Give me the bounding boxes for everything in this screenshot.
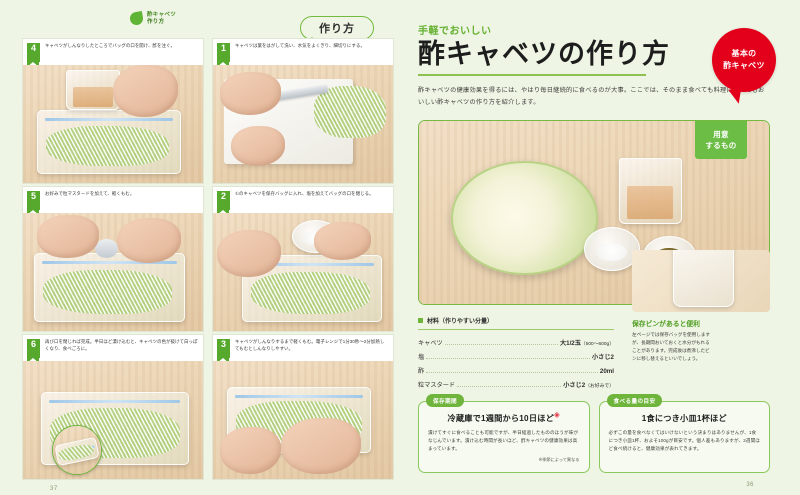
leader-dots bbox=[426, 372, 598, 373]
step-card-3: 3 キャベツがしんなりするまで軽くもむ。電子レンジで1分30秒〜2分加熱してもむ… bbox=[212, 334, 394, 480]
hero-tag-line-2: するもの bbox=[705, 140, 736, 151]
leader-dots bbox=[426, 358, 590, 359]
jar-note-body: 左ページでは保存バッグを使用しますが、長期間おいておくと水分がもれることがありま… bbox=[632, 331, 714, 363]
step-photo-3 bbox=[213, 361, 393, 479]
step-number-badge: 4 bbox=[27, 43, 40, 62]
jar-note-title: 保存ビンがあると便利 bbox=[632, 318, 770, 328]
serving-amount-text: 必ずこの量を食べなくてはいけないという決まりはありませんが、1食につき小皿1杯、… bbox=[609, 429, 761, 454]
ingredient-row: 塩 小さじ2 bbox=[418, 349, 614, 363]
basic-recipe-badge: 基本の 酢キャベツ bbox=[712, 28, 776, 92]
step-number-badge: 1 bbox=[217, 43, 230, 62]
step-photo-4 bbox=[23, 65, 203, 183]
storage-period-tab: 保存期間 bbox=[426, 394, 464, 407]
ingredient-name: 酢 bbox=[418, 366, 424, 375]
storage-period-title: 冷蔵庫で1週間から10日ほど※ bbox=[428, 412, 580, 424]
magazine-spread: 酢キャベツ 作り方 作り方 4 キャベツがしんなりしたところでバッグの口を開け、… bbox=[0, 0, 800, 495]
page-number-right: 36 bbox=[746, 482, 754, 488]
ingredients-heading-row: 材料（作りやすい分量） bbox=[418, 316, 614, 325]
right-page: 手軽でおいしい 酢キャベツの作り方 酢キャベツの健康効果を得るには、やはり毎日継… bbox=[400, 0, 800, 495]
step-card-5: 5 お好みで粒マスタードを加えて、軽くもむ。 bbox=[22, 186, 204, 332]
ingredient-row: 酢 20ml bbox=[418, 363, 614, 377]
step-card-4: 4 キャベツがしんなりしたところでバッグの口を開け、酢を注ぐ。 bbox=[22, 38, 204, 184]
detail-inset-photo bbox=[52, 425, 102, 475]
step-caption: お好みで粒マスタードを加えて、軽くもむ。 bbox=[45, 191, 134, 210]
serving-amount-tab: 食べる量の目安 bbox=[607, 394, 663, 407]
ingredients-section: 材料（作りやすい分量） キャベツ 大1/2玉（500〜600g） 塩 小さじ2 … bbox=[418, 316, 614, 391]
running-head-sub: 作り方 bbox=[147, 19, 176, 25]
leader-dots bbox=[445, 344, 558, 345]
step-caption: キャベツがしんなりしたところでバッグの口を開け、酢を注ぐ。 bbox=[45, 43, 175, 62]
step-photo-5 bbox=[23, 213, 203, 331]
hero-tag: 用意 するもの bbox=[695, 121, 747, 159]
step-number-badge: 3 bbox=[217, 339, 230, 358]
ingredient-amount: 小さじ2 bbox=[592, 352, 614, 361]
kicker: 手軽でおいしい bbox=[418, 22, 770, 37]
ingredients-heading: 材料（作りやすい分量） bbox=[427, 316, 493, 325]
hero-tag-line-1: 用意 bbox=[713, 129, 729, 140]
step-photo-1 bbox=[213, 65, 393, 183]
left-page: 酢キャベツ 作り方 作り方 4 キャベツがしんなりしたところでバッグの口を開け、… bbox=[0, 0, 400, 495]
howto-bubble: 作り方 bbox=[300, 16, 374, 40]
square-bullet-icon bbox=[418, 318, 423, 323]
serving-amount-title: 1食につき小皿1杯ほど bbox=[609, 412, 761, 424]
ingredient-name: 粒マスタード bbox=[418, 380, 455, 389]
ingredient-row: キャベツ 大1/2玉（500〜600g） bbox=[418, 335, 614, 349]
storage-period-note: ※季節によって異なる bbox=[428, 457, 580, 463]
step-caption: ①のキャベツを保存バッグに入れ、塩を加えてバッグの口を閉じる。 bbox=[235, 191, 374, 210]
badge-line-2: 酢キャベツ bbox=[723, 60, 765, 72]
step-number-badge: 6 bbox=[27, 339, 40, 358]
steps-grid: 4 キャベツがしんなりしたところでバッグの口を開け、酢を注ぐ。 1 bbox=[22, 38, 394, 480]
info-boxes-row: 保存期間 冷蔵庫で1週間から10日ほど※ 漬けてすぐに食べることも可能ですが、半… bbox=[418, 394, 770, 473]
ingredient-amount: 大1/2玉（500〜600g） bbox=[560, 338, 614, 347]
ingredients-divider bbox=[418, 329, 614, 330]
step-card-1: 1 キャベツは葉をはがして洗い、水気をよくきり、細切りにする。 bbox=[212, 38, 394, 184]
page-number-left: 37 bbox=[50, 486, 58, 492]
ingredient-amount: 小さじ2（お好みで） bbox=[563, 380, 614, 389]
title-underline bbox=[418, 74, 646, 75]
ingredient-amount: 20ml bbox=[600, 368, 614, 375]
storage-period-box: 保存期間 冷蔵庫で1週間から10日ほど※ 漬けてすぐに食べることも可能ですが、半… bbox=[418, 394, 590, 473]
running-head-main: 酢キャベツ bbox=[147, 12, 176, 18]
step-card-6: 6 再び口を閉じれば完成。半日ほど漬け込むと、キャベツの色が抜けて白っぽくなり、… bbox=[22, 334, 204, 480]
step-caption: 再び口を閉じれば完成。半日ほど漬け込むと、キャベツの色が抜けて白っぽくなり、食べ… bbox=[45, 339, 198, 358]
ingredient-name: キャベツ bbox=[418, 338, 443, 347]
jar-photo bbox=[632, 250, 770, 312]
step-caption: キャベツがしんなりするまで軽くもむ。電子レンジで1分30秒〜2分加熱してもむとし… bbox=[235, 339, 388, 358]
step-number-badge: 2 bbox=[217, 191, 230, 210]
leaf-icon bbox=[129, 11, 144, 26]
storage-period-text: 漬けてすぐに食べることも可能ですが、半日経過したもののほうが味がなじんでいます。… bbox=[428, 429, 580, 454]
badge-line-1: 基本の bbox=[732, 48, 757, 60]
lead-paragraph: 酢キャベツの健康効果を得るには、やはり毎日継続的に食べるのが大事。ここでは、その… bbox=[418, 85, 770, 110]
jar-note-section: 保存ビンがあると便利 左ページでは保存バッグを使用しますが、長期間おいておくと水… bbox=[632, 250, 770, 363]
step-number-badge: 5 bbox=[27, 191, 40, 210]
leader-dots bbox=[457, 386, 561, 387]
serving-amount-box: 食べる量の目安 1食につき小皿1杯ほど 必ずこの量を食べなくてはいけないという決… bbox=[599, 394, 771, 473]
step-photo-6 bbox=[23, 361, 203, 479]
step-card-2: 2 ①のキャベツを保存バッグに入れ、塩を加えてバッグの口を閉じる。 bbox=[212, 186, 394, 332]
ingredient-name: 塩 bbox=[418, 352, 424, 361]
ingredient-row: 粒マスタード 小さじ2（お好みで） bbox=[418, 377, 614, 391]
step-photo-2 bbox=[213, 213, 393, 331]
step-caption: キャベツは葉をはがして洗い、水気をよくきり、細切りにする。 bbox=[235, 43, 365, 62]
